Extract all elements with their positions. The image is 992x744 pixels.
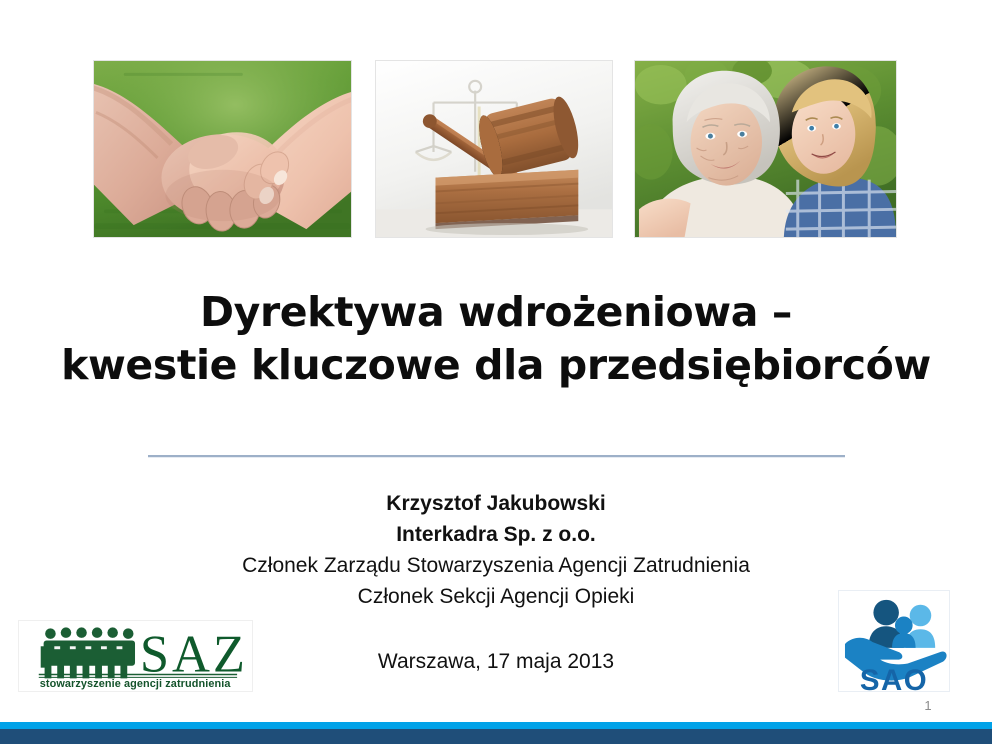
saz-logo: SAZ stowarzyszenie agencji zatrudnienia (18, 620, 253, 692)
slide-subtitle: Krzysztof Jakubowski Interkadra Sp. z o.… (40, 488, 952, 612)
svg-text:SAO: SAO (860, 664, 928, 691)
title-line-1: Dyrektywa wdrożeniowa – (40, 286, 952, 339)
presenter-company: Interkadra Sp. z o.o. (40, 519, 952, 550)
footer-accent-bar-dark (0, 729, 992, 744)
footer-accent-bar-light (0, 722, 992, 729)
presenter-role-2: Członek Sekcji Agencji Opieki (40, 581, 952, 612)
clasped-hands-photo (93, 60, 352, 238)
elderly-woman-and-carer-photo (634, 60, 897, 238)
presentation-slide: Dyrektywa wdrożeniowa – kwestie kluczowe… (0, 0, 992, 744)
slide-title: Dyrektywa wdrożeniowa – kwestie kluczowe… (40, 286, 952, 392)
page-number: 1 (908, 698, 948, 713)
title-divider (148, 455, 845, 457)
presenter-role-1: Członek Zarządu Stowarzyszenia Agencji Z… (40, 550, 952, 581)
title-line-2: kwestie kluczowe dla przedsiębiorców (40, 339, 952, 392)
photo-strip (93, 60, 897, 238)
svg-text:stowarzyszenie agencji zatrudn: stowarzyszenie agencji zatrudnienia (40, 678, 232, 690)
presenter-name: Krzysztof Jakubowski (40, 488, 952, 519)
gavel-scales-photo (375, 60, 613, 238)
sao-logo: SAO (838, 590, 950, 692)
